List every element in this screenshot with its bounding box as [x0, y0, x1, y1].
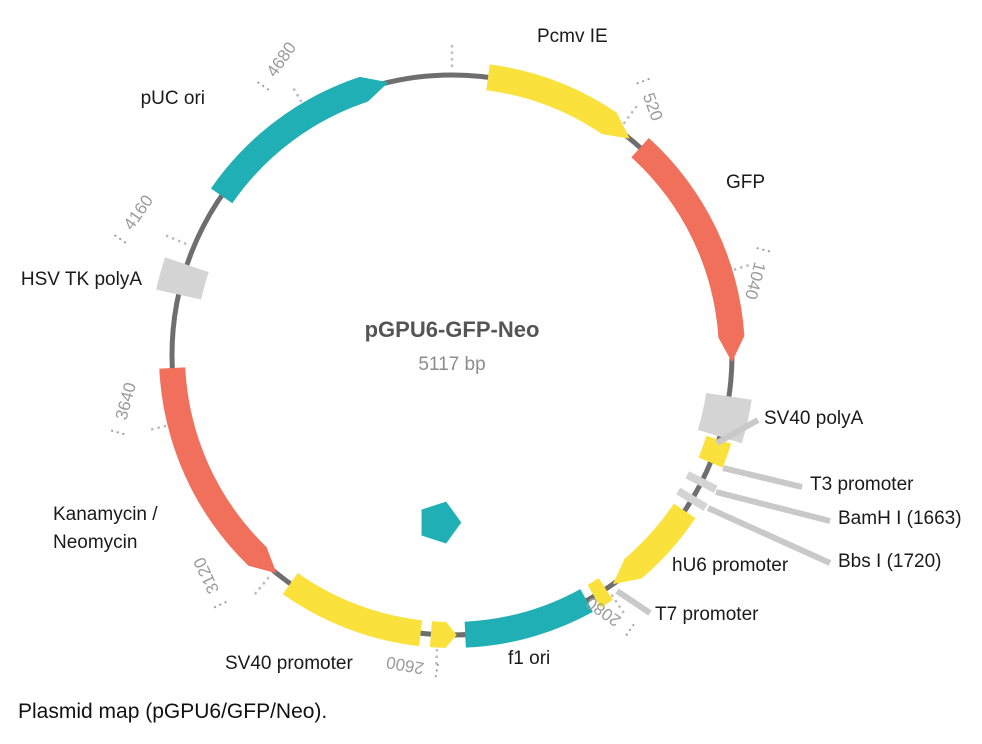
- feature-sv40-promoter-2: [283, 573, 422, 646]
- label-bbs-i-1720: Bbs I (1720): [838, 551, 942, 572]
- feature-unlabeled-pentagon: [422, 502, 462, 544]
- feature-kanamycin-neomycin: [159, 367, 276, 573]
- plasmid-map-figure: ⋮ 4680⋮ 520⋮ 1040⋮ 2080⋮ 2600⋮ 3120⋮ 364…: [0, 0, 982, 744]
- label-t3-promoter: T3 promoter: [810, 474, 914, 495]
- plasmid-name: pGPU6-GFP-Neo: [365, 317, 540, 342]
- tick-3120-text: ⋮ 3120: [190, 554, 232, 616]
- feature-pcmv-ie: [486, 64, 629, 138]
- label-sv40-promoter: SV40 promoter: [225, 653, 353, 674]
- restriction-site-Bbs I (1720): [678, 491, 705, 507]
- tick-1040-text: ⋮ 1040: [741, 239, 775, 301]
- leader-line-t7-promoter: [617, 591, 650, 613]
- feature-sv40-promoter: [430, 621, 457, 648]
- plasmid-map-canvas: ⋮ 4680⋮ 520⋮ 1040⋮ 2080⋮ 2600⋮ 3120⋮ 364…: [0, 0, 982, 744]
- tick-4160: ⋮ 4160: [107, 192, 157, 252]
- tick-3120: ⋮ 3120: [190, 554, 232, 616]
- tick-mark: [162, 234, 186, 244]
- label-f1-ori: f1 ori: [508, 648, 550, 669]
- tick-520-text: ⋮ 520: [631, 70, 666, 124]
- label-sv40-polya: SV40 polyA: [764, 408, 864, 429]
- plasmid-size: 5117 bp: [418, 354, 485, 375]
- tick-3640: ⋮ 3640: [106, 381, 140, 443]
- leader-line-t3-promoter: [723, 468, 802, 487]
- label-gfp: GFP: [726, 172, 765, 193]
- feature-labels-layer: pUC oriHSV TK polyAKanamycin /NeomycinSV…: [21, 26, 962, 674]
- center-text-layer: pGPU6-GFP-Neo 5117 bp: [365, 317, 540, 375]
- tick-mark: [624, 103, 639, 124]
- label-pcmv-ie: Pcmv IE: [537, 26, 608, 47]
- label-hu6-promoter: hU6 promoter: [672, 555, 789, 576]
- figure-caption: Plasmid map (pGPU6/GFP/Neo).: [18, 700, 327, 724]
- label-kanamycin-line2: Neomycin: [53, 532, 137, 553]
- tick-mark: [252, 577, 269, 597]
- label-puc-ori: pUC ori: [141, 88, 205, 109]
- tick-3640-text: ⋮ 3640: [106, 381, 140, 443]
- feature-puc-ori: [211, 77, 388, 203]
- label-kanamycin-line1: Kanamycin /: [53, 504, 158, 525]
- label-hsv-tk-polya: HSV TK polyA: [21, 269, 142, 290]
- tick-4160-text: ⋮ 4160: [107, 192, 157, 252]
- label-bamh-i-1663: BamH I (1663): [838, 508, 962, 529]
- feature-hsv-tk-polya: [156, 257, 209, 299]
- tick-520: ⋮ 520: [631, 70, 666, 124]
- tick-1040: ⋮ 1040: [741, 239, 775, 301]
- feature-f1-ori: [465, 589, 593, 648]
- label-t7-promoter: T7 promoter: [655, 604, 759, 625]
